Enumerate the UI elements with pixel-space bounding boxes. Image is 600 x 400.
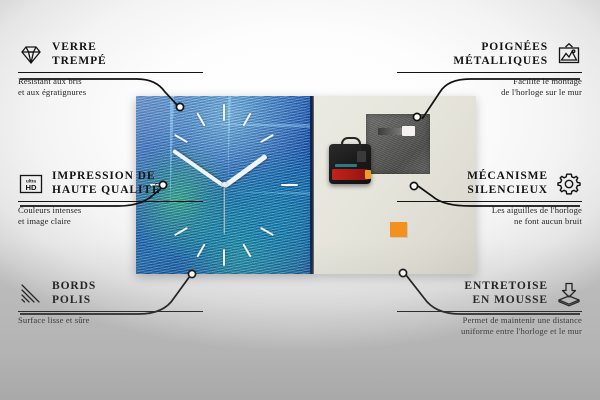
callout-title: POIGNÉESMÉTALLIQUES — [397, 41, 548, 68]
hanger-slot-highlight — [402, 126, 415, 136]
callout-title: MÉCANISMESILENCIEUX — [397, 170, 548, 197]
callout-bords-polis[interactable]: BORDSPOLIS Surface lisse et sûre — [18, 280, 203, 326]
callout-rule — [397, 311, 582, 312]
callout-impression-haute-qualite[interactable]: ultra HD IMPRESSION DEHAUTE QUALITÉ Coul… — [18, 170, 203, 226]
metal-hanger-plate — [366, 114, 430, 174]
clock-tick — [281, 184, 298, 186]
gear-icon — [556, 171, 582, 197]
clock-second-hand — [223, 186, 224, 234]
mechanism-hanging-loop — [341, 137, 361, 151]
callout-rule — [397, 72, 582, 73]
svg-text:HD: HD — [26, 182, 37, 191]
callout-title: ENTRETOISEEN MOUSSE — [397, 280, 548, 307]
callout-rule — [18, 201, 203, 202]
clock-tick — [223, 104, 225, 121]
callout-mecanisme-silencieux[interactable]: MÉCANISMESILENCIEUX Les aiguilles de l'h… — [397, 170, 582, 226]
clock-mechanism — [329, 144, 371, 184]
callout-rule — [397, 201, 582, 202]
callout-title: IMPRESSION DEHAUTE QUALITÉ — [52, 170, 203, 197]
callout-title: VERRETREMPÉ — [52, 41, 203, 68]
callout-subtitle: Permet de maintenir une distanceuniforme… — [397, 315, 582, 336]
diamond-icon — [18, 42, 44, 68]
callout-entretoise-en-mousse[interactable]: ENTRETOISEEN MOUSSE Permet de maintenir … — [397, 280, 582, 336]
polished-edges-icon — [18, 281, 44, 307]
callout-subtitle: Couleurs intenseset image claire — [18, 205, 203, 226]
callout-rule — [18, 72, 203, 73]
callout-subtitle: Les aiguilles de l'horlogene font aucun … — [397, 205, 582, 226]
ultra-hd-icon: ultra HD — [18, 171, 44, 197]
callout-verre-trempe[interactable]: VERRETREMPÉ Résistant aux briset aux égr… — [18, 41, 203, 97]
infographic-stage: VERRETREMPÉ Résistant aux briset aux égr… — [0, 0, 600, 400]
picture-hanger-icon — [556, 42, 582, 68]
callout-title: BORDSPOLIS — [52, 280, 203, 307]
callout-subtitle: Résistant aux briset aux égratignures — [18, 76, 203, 97]
mechanism-label — [335, 164, 357, 167]
callout-poignees-metalliques[interactable]: POIGNÉESMÉTALLIQUES Facilite le montaged… — [397, 41, 582, 97]
foam-spacer-icon — [556, 281, 582, 307]
clock-tick — [223, 249, 225, 266]
callout-subtitle: Surface lisse et sûre — [18, 315, 203, 326]
battery — [332, 169, 368, 180]
callout-subtitle: Facilite le montagede l'horloge sur le m… — [397, 76, 582, 97]
mechanism-shaft — [357, 151, 366, 162]
callout-rule — [18, 311, 203, 312]
clock-hub — [222, 182, 227, 187]
